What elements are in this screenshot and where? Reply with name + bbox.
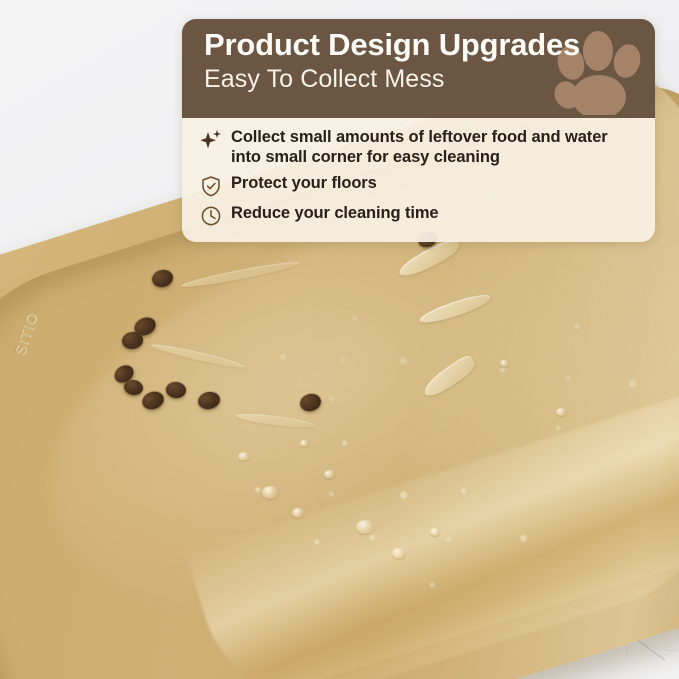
card-body: Collect small amounts of leftover food a… bbox=[182, 118, 655, 242]
water-droplet bbox=[356, 520, 375, 534]
feature-bullet-text: Protect your floors bbox=[231, 174, 377, 194]
card-title: Product Design Upgrades bbox=[204, 26, 633, 63]
product-photo-scene: SITIO bbox=[0, 0, 679, 679]
feature-bullet: Collect small amounts of leftover food a… bbox=[200, 128, 639, 167]
product-info-card: Product Design Upgrades Easy To Collect … bbox=[182, 19, 655, 242]
water-droplet bbox=[556, 408, 567, 416]
card-subtitle: Easy To Collect Mess bbox=[204, 63, 633, 95]
water-droplet bbox=[238, 452, 250, 461]
shield-check-icon bbox=[200, 175, 222, 197]
card-header: Product Design Upgrades Easy To Collect … bbox=[182, 19, 655, 118]
water-droplet bbox=[262, 486, 279, 499]
sparkle-icon bbox=[200, 129, 222, 151]
water-droplet bbox=[292, 508, 305, 518]
water-droplet bbox=[324, 470, 335, 479]
feature-bullet-text: Reduce your cleaning time bbox=[231, 204, 438, 224]
water-droplet bbox=[500, 360, 509, 367]
clock-icon bbox=[200, 205, 222, 227]
water-droplet bbox=[392, 548, 406, 559]
feature-bullet: Protect your floors bbox=[200, 174, 639, 197]
water-droplet bbox=[430, 528, 440, 536]
water-droplet bbox=[300, 440, 309, 447]
feature-bullet-text: Collect small amounts of leftover food a… bbox=[231, 128, 635, 167]
feature-bullet: Reduce your cleaning time bbox=[200, 204, 639, 227]
